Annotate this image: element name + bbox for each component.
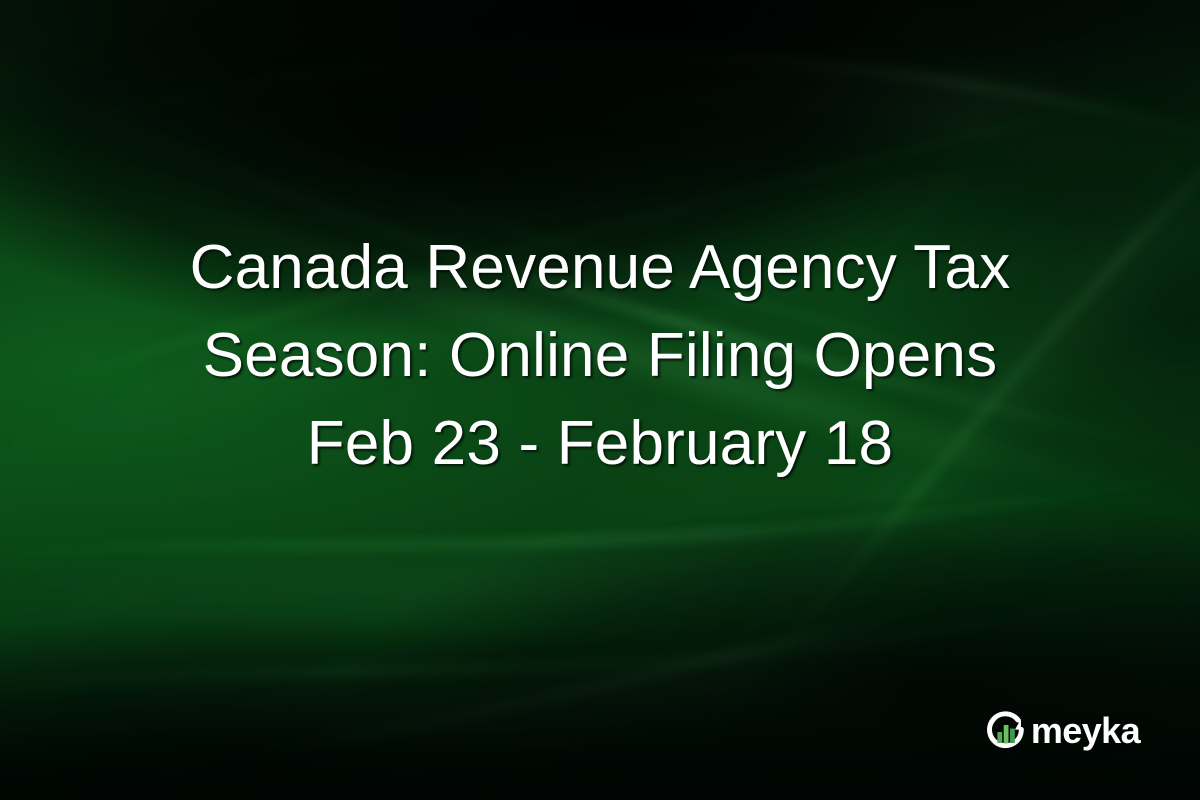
brand-wordmark: meyka: [1031, 713, 1140, 749]
page-title: Canada Revenue Agency Tax Season: Online…: [0, 224, 1200, 488]
banner-canvas: Canada Revenue Agency Tax Season: Online…: [0, 0, 1200, 800]
meyka-bar-chart-ring-icon: [983, 708, 1029, 754]
brand-logo[interactable]: meyka: [983, 708, 1144, 754]
